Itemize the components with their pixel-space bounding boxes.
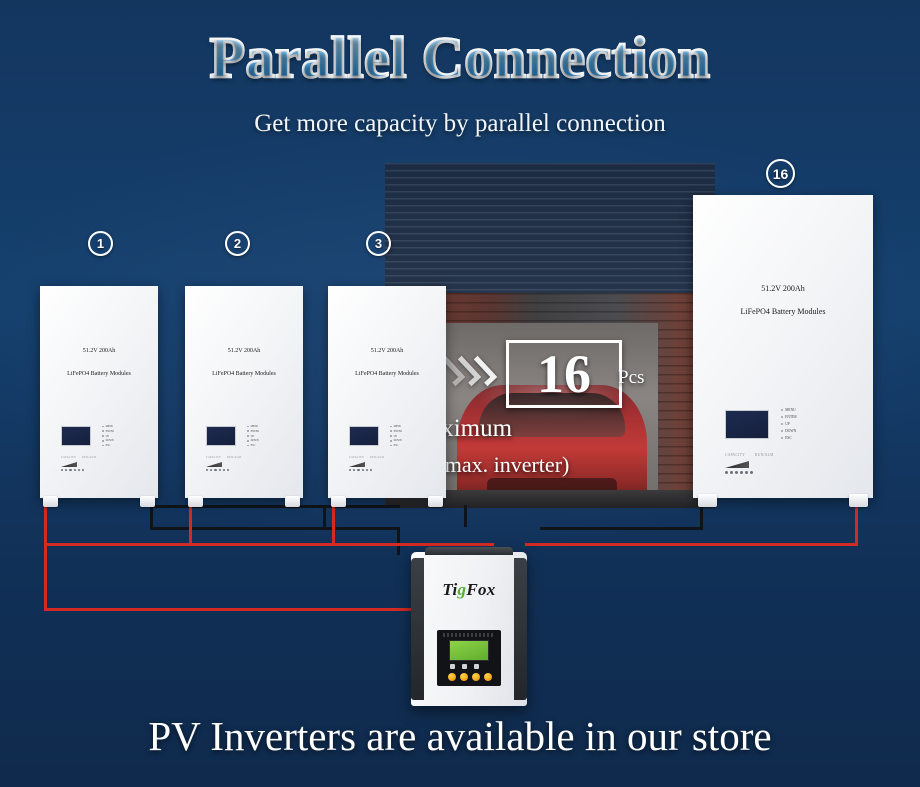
battery-key-label: ENTER [251,430,259,433]
battery-model-label: LiFePO4 Battery Modules [328,371,446,377]
battery-keypad[interactable]: MENU ENTER UP DOWN ESC [390,425,418,447]
battery-module-3[interactable]: 51.2V 200Ah LiFePO4 Battery Modules MENU… [328,286,446,498]
badge-2: 2 [225,231,250,256]
badge-1: 1 [88,231,113,256]
battery-key-label: UP [106,435,109,438]
battery-key-label: MENU [251,425,259,428]
max-count-callout-box: 16 [506,340,622,408]
battery-capacity-bar [349,462,365,467]
battery-key-label: DOWN [106,439,114,442]
battery-key-label: DOWN [251,439,259,442]
battery-terminal-negative [849,494,868,507]
inverter-button[interactable] [484,673,492,681]
battery-capacity-microlabel: CAPACITY [349,456,364,459]
battery-key-label: MENU [106,425,114,428]
cable-negative-drop-3 [464,505,467,527]
max-count-value: 16 [537,347,591,401]
battery-module-16[interactable]: 51.2V 200Ah LiFePO4 Battery Modules MENU… [693,195,873,498]
battery-status-microlabel: RUN/ALM [227,456,241,459]
battery-module-1[interactable]: 51.2V 200Ah LiFePO4 Battery Modules MENU… [40,286,158,498]
garage-siding [385,163,715,293]
battery-key-label: UP [251,435,254,438]
inverter-button-row[interactable] [448,673,492,681]
battery-keypad[interactable]: MENU ENTER UP DOWN ESC [781,408,819,440]
inverter-brand-logo: TigFox [411,580,527,600]
battery-key-label: ESC [394,444,399,447]
cable-positive-bus-right [525,543,858,546]
inverter-led [462,664,467,669]
battery-key-label: DOWN [785,429,796,433]
cable-negative-drop-2 [323,505,326,527]
inverter-button[interactable] [448,673,456,681]
battery-led-row [61,469,84,471]
battery-key-label: UP [785,422,790,426]
battery-voltage-label: 51.2V 200Ah [40,348,158,354]
page-subtitle: Get more capacity by parallel connection [0,110,920,138]
badge-3: 3 [366,231,391,256]
battery-led-row [725,471,753,474]
max-count-unit: Pcs [618,367,644,389]
battery-capacity-bar [725,461,749,468]
battery-lcd-screen [61,426,91,446]
brand-text-post: Fox [466,580,495,599]
cable-negative-to-inverter [397,527,400,555]
battery-key-label: MENU [785,408,796,412]
battery-status-microlabel: RUN/ALM [755,453,774,457]
battery-lcd-screen [725,410,769,439]
battery-key-label: MENU [394,425,402,428]
battery-voltage-label: 51.2V 200Ah [693,284,873,293]
title-block: Parallel Connection [0,24,920,91]
infographic-canvas: Parallel Connection Get more capacity by… [0,0,920,787]
brand-text-g: g [458,580,467,599]
inverter-button[interactable] [472,673,480,681]
cable-positive-riser [44,543,47,611]
inverter-top-vent [425,547,513,555]
battery-key-label: ESC [251,444,256,447]
footer-tagline: PV Inverters are available in our store [0,712,920,760]
battery-voltage-label: 51.2V 200Ah [328,348,446,354]
battery-key-label: ENTER [394,430,402,433]
inverter-control-panel[interactable] [437,630,501,686]
battery-keypad[interactable]: MENU ENTER UP DOWN ESC [247,425,275,447]
inverter-lcd-screen [449,640,489,661]
battery-terminal-positive [43,496,58,507]
battery-lcd-screen [349,426,379,446]
battery-lcd-screen [206,426,236,446]
pv-inverter-unit[interactable]: TigFox [411,552,527,706]
battery-terminal-negative [285,496,300,507]
battery-key-label: ESC [106,444,111,447]
cable-positive-bus [44,543,494,546]
battery-key-label: DOWN [394,439,402,442]
battery-terminal-positive [331,496,346,507]
flow-arrows-icon [444,356,489,386]
battery-terminal-positive [698,494,717,507]
battery-model-label: LiFePO4 Battery Modules [40,371,158,377]
brand-text-pre: Ti [442,580,457,599]
cable-positive-to-inverter [44,608,414,611]
battery-module-2[interactable]: 51.2V 200Ah LiFePO4 Battery Modules MENU… [185,286,303,498]
battery-key-label: ESC [785,436,792,440]
battery-voltage-label: 51.2V 200Ah [185,348,303,354]
inverter-led [450,664,455,669]
inverter-status-leds [450,664,479,669]
battery-status-microlabel: RUN/ALM [82,456,96,459]
battery-terminal-positive [188,496,203,507]
cable-negative-bus-mid [150,527,400,530]
battery-terminal-negative [140,496,155,507]
battery-capacity-microlabel: CAPACITY [725,453,745,457]
battery-key-label: ENTER [106,430,114,433]
battery-keypad[interactable]: MENU ENTER UP DOWN ESC [102,425,130,447]
inverter-button[interactable] [460,673,468,681]
cable-negative-drop-1 [150,505,153,527]
battery-led-row [206,469,229,471]
inverter-panel-label-strip [443,633,495,637]
battery-key-label: ENTER [785,415,797,419]
battery-capacity-microlabel: CAPACITY [206,456,221,459]
battery-capacity-bar [206,462,222,467]
cable-negative-drop-16 [700,505,703,527]
battery-capacity-bar [61,462,77,467]
battery-led-row [349,469,372,471]
battery-capacity-microlabel: CAPACITY [61,456,76,459]
battery-key-label: UP [394,435,397,438]
battery-model-label: LiFePO4 Battery Modules [185,371,303,377]
battery-model-label: LiFePO4 Battery Modules [693,307,873,316]
page-title: Parallel Connection [210,24,711,91]
battery-terminal-negative [428,496,443,507]
inverter-led [474,664,479,669]
battery-status-microlabel: RUN/ALM [370,456,384,459]
cable-negative-bus-right [540,527,703,530]
badge-16: 16 [766,159,795,188]
